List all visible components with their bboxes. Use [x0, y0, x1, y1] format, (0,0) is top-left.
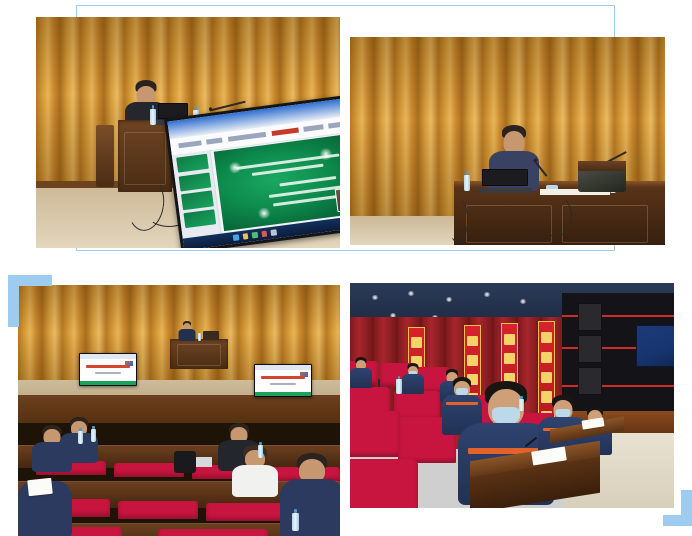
- notepad: [27, 478, 53, 496]
- toolbar-item: [271, 127, 298, 136]
- screen-subtitle-text: [95, 372, 122, 374]
- corner-bracket-bottom-right: [663, 490, 692, 526]
- screen-title-text: [261, 376, 306, 380]
- face-mask: [196, 457, 212, 467]
- screen-footer-bar: [80, 381, 136, 385]
- toolbar-item: [304, 124, 324, 132]
- bracket-arm-vertical: [681, 490, 692, 526]
- banner-character: [504, 334, 514, 345]
- podium-chair: [96, 125, 114, 187]
- water-bottle: [258, 445, 263, 458]
- taskbar-icon: [261, 230, 268, 237]
- water-bottle: [292, 513, 299, 531]
- screen-footer-bar: [255, 392, 311, 396]
- hanging-speaker: [578, 367, 602, 395]
- slide-text-line: [279, 176, 337, 187]
- stage-speaker: [178, 321, 196, 341]
- screen-logo: [125, 361, 133, 366]
- toolbar-item: [206, 137, 222, 144]
- seat: [158, 529, 268, 536]
- toolbar-item: [227, 131, 266, 141]
- photo-top-left: [36, 17, 340, 248]
- banner-character: [411, 337, 421, 348]
- seat-foreground: [350, 459, 418, 508]
- worker-body: [350, 368, 372, 388]
- water-bottle: [198, 333, 201, 341]
- lectern-top: [578, 161, 626, 171]
- photo-bottom-left: [18, 285, 340, 536]
- water-bottle: [91, 429, 96, 442]
- podium-equipment: [203, 331, 219, 340]
- blue-display-screen: [636, 325, 674, 367]
- laptop-base: [478, 188, 531, 193]
- slide-sparkle: [256, 207, 272, 220]
- collage-canvas: [0, 0, 692, 536]
- banner-character: [467, 355, 477, 366]
- photo-bottom-right: [350, 283, 674, 508]
- screen-title-text: [86, 365, 131, 369]
- toolbar-item: [178, 140, 202, 148]
- scene-auditorium-rear-view: [18, 285, 340, 536]
- speaker-torso: [179, 329, 196, 341]
- scene-lecture-stage: [36, 17, 340, 248]
- water-bottle: [464, 175, 470, 191]
- screen-subtitle-text: [270, 383, 297, 385]
- seat: [118, 501, 198, 519]
- speaker-laptop: [482, 169, 528, 193]
- seat: [206, 503, 286, 521]
- slide-sparkle: [318, 148, 334, 161]
- corner-bracket-bottom-left: [8, 275, 52, 327]
- bracket-arm-vertical: [8, 275, 19, 327]
- scene-conference-table: [350, 37, 665, 245]
- laptop-lid: [482, 169, 528, 186]
- banner-character: [504, 353, 514, 364]
- screen-header: [80, 354, 136, 359]
- toolbar-item: [328, 120, 340, 129]
- screen-content: [80, 354, 136, 385]
- seat: [350, 411, 400, 457]
- stage-podium: [170, 339, 228, 369]
- slide-text-line: [273, 195, 339, 207]
- ceiling-light: [446, 297, 452, 302]
- slide-thumbnail: [176, 154, 208, 173]
- black-bag: [578, 168, 626, 192]
- photo-top-right: [350, 37, 665, 245]
- screen-content: [255, 365, 311, 396]
- slide-thumbnail-pane: [172, 150, 222, 239]
- water-bottle: [396, 379, 402, 394]
- attendee-worker: [350, 357, 372, 387]
- attendee: [232, 445, 278, 497]
- worker-body: [402, 374, 424, 394]
- slide-thumbnail: [181, 191, 213, 210]
- attendee: [280, 453, 340, 536]
- screen-header: [255, 365, 311, 370]
- slide-thumbnail: [178, 172, 210, 191]
- slide-sparkle: [227, 161, 243, 174]
- banner-character: [541, 352, 551, 363]
- attendee-torso: [280, 479, 340, 536]
- hanging-speaker: [578, 303, 602, 331]
- display-screen-right: [254, 364, 312, 397]
- ceiling-light: [484, 292, 490, 297]
- table-panel: [562, 205, 648, 243]
- tv-panel: [167, 97, 340, 248]
- table-cable: [448, 197, 468, 243]
- hanging-speaker: [578, 335, 602, 363]
- ceiling-light: [408, 291, 414, 296]
- water-bottle: [78, 431, 83, 444]
- taskbar-icon: [252, 232, 259, 239]
- taskbar-icon: [271, 229, 278, 236]
- water-bottle: [150, 109, 156, 125]
- ceiling-light: [372, 295, 378, 300]
- taskbar-icon: [242, 233, 249, 240]
- water-bottle: [519, 399, 524, 411]
- screen-logo: [300, 372, 308, 377]
- ceiling-light: [520, 299, 526, 304]
- table-cable: [540, 195, 572, 237]
- banner-character: [541, 332, 551, 343]
- attendee-torso: [232, 465, 278, 497]
- scene-training-hall: [350, 283, 674, 508]
- table-panel: [466, 205, 552, 243]
- banner-character: [467, 336, 477, 347]
- slide-thumbnail: [183, 209, 215, 228]
- taskbar-icon: [233, 234, 240, 241]
- backpack: [174, 451, 196, 473]
- display-screen-left: [79, 353, 137, 386]
- attendee-worker: [402, 363, 424, 393]
- presentation-television: [164, 93, 340, 248]
